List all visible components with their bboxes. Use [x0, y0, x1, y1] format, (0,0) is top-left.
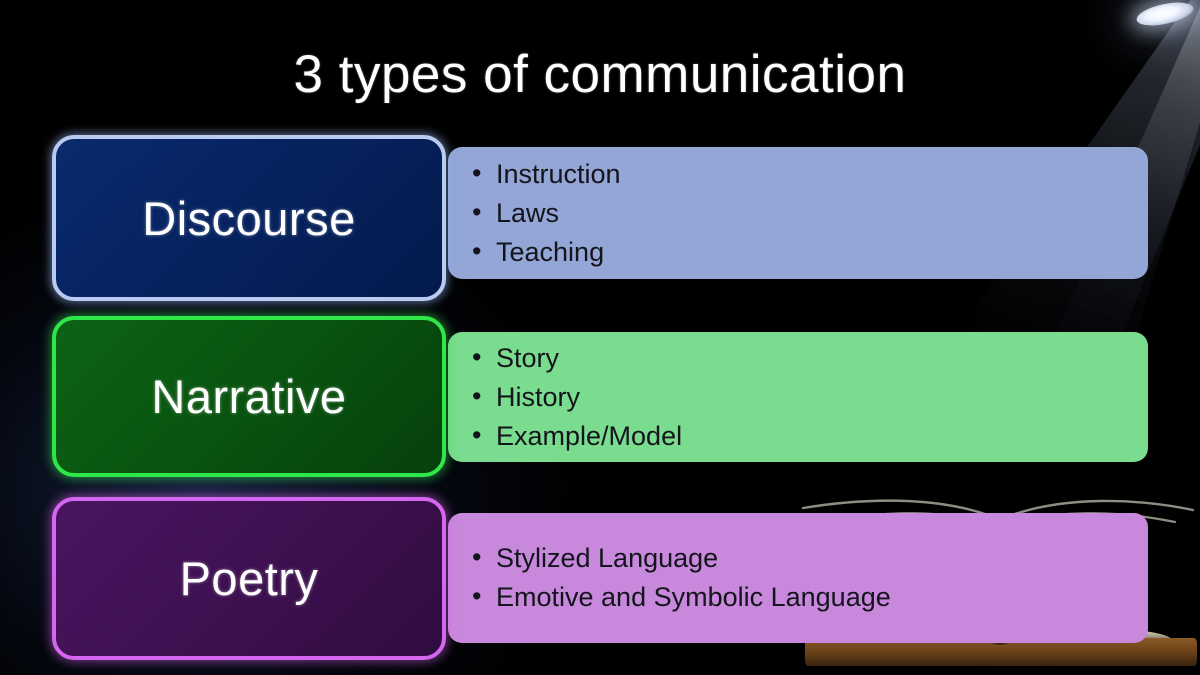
- bullet-list: Story History Example/Model: [466, 339, 1148, 456]
- bullet-panel: Story History Example/Model: [448, 332, 1148, 462]
- type-label-poetry: Poetry: [52, 497, 446, 660]
- communication-type-row: Instruction Laws Teaching Discourse: [0, 135, 1200, 305]
- type-label-discourse: Discourse: [52, 135, 446, 301]
- list-item: Teaching: [466, 233, 1148, 272]
- bullet-panel: Instruction Laws Teaching: [448, 147, 1148, 279]
- list-item: Instruction: [466, 155, 1148, 194]
- communication-type-row: Story History Example/Model Narrative: [0, 316, 1200, 479]
- list-item: Emotive and Symbolic Language: [466, 578, 1148, 617]
- page-title: 3 types of communication: [0, 44, 1200, 105]
- type-label-narrative: Narrative: [52, 316, 446, 477]
- list-item: Example/Model: [466, 417, 1148, 456]
- spotlight-lamp-icon: [1135, 0, 1196, 30]
- list-item: Stylized Language: [466, 539, 1148, 578]
- slide-canvas: 3 types of communication Instruction Law…: [0, 0, 1200, 675]
- list-item: Story: [466, 339, 1148, 378]
- bullet-list: Stylized Language Emotive and Symbolic L…: [466, 539, 1148, 617]
- list-item: Laws: [466, 194, 1148, 233]
- list-item: History: [466, 378, 1148, 417]
- bullet-panel: Stylized Language Emotive and Symbolic L…: [448, 513, 1148, 643]
- bullet-list: Instruction Laws Teaching: [466, 155, 1148, 272]
- communication-type-row: Stylized Language Emotive and Symbolic L…: [0, 497, 1200, 663]
